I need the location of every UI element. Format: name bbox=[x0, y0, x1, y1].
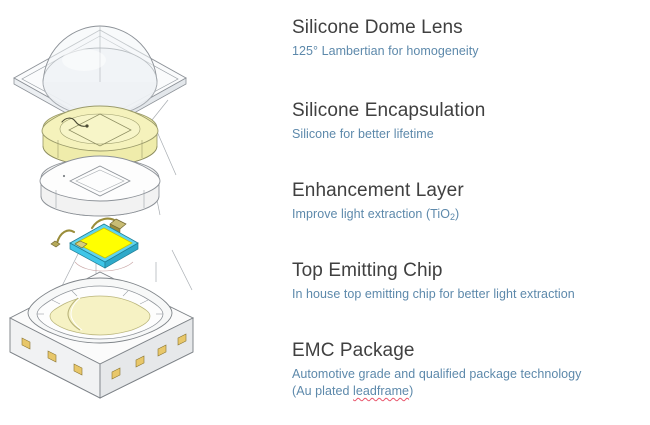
callout-title: Silicone Encapsulation bbox=[292, 99, 650, 123]
callout-silicone-dome-lens: Silicone Dome Lens 125° Lambertian for h… bbox=[292, 16, 650, 60]
callout-title: Enhancement Layer bbox=[292, 179, 650, 203]
led-exploded-diagram bbox=[0, 0, 285, 425]
callout-subtitle: 125° Lambertian for homogeneity bbox=[292, 43, 650, 60]
callout-subtitle-text-end: ) bbox=[409, 384, 413, 398]
callout-subtitle-text: Automotive grade and qualified package t… bbox=[292, 367, 581, 381]
callout-subtitle-text-end: ) bbox=[455, 207, 459, 221]
callout-enhancement-layer: Enhancement Layer Improve light extracti… bbox=[292, 179, 650, 224]
callout-subtitle: Automotive grade and qualified package t… bbox=[292, 366, 650, 383]
layer-top-emitting-chip bbox=[51, 219, 138, 271]
callout-subtitle: Improve light extraction (TiO2) bbox=[292, 206, 650, 224]
layer-enhancement bbox=[40, 156, 160, 216]
led-assembly-svg bbox=[0, 0, 285, 425]
callout-subtitle: Silicone for better lifetime bbox=[292, 126, 650, 143]
callout-subtitle-text: Improve light extraction (TiO bbox=[292, 207, 450, 221]
spellcheck-flagged-word: leadframe bbox=[353, 384, 409, 398]
chemical-subscript: 2 bbox=[450, 212, 455, 222]
callout-subtitle-line2: (Au plated leadframe) bbox=[292, 383, 650, 400]
callout-subtitle-text: In house top emitting chip for better li… bbox=[292, 287, 575, 301]
layer-emc-package bbox=[10, 272, 193, 398]
callout-silicone-encapsulation: Silicone Encapsulation Silicone for bett… bbox=[292, 99, 650, 143]
callout-title: EMC Package bbox=[292, 339, 650, 363]
callout-subtitle-text: Silicone for better lifetime bbox=[292, 127, 434, 141]
callout-list: Silicone Dome Lens 125° Lambertian for h… bbox=[292, 0, 650, 425]
callout-title: Silicone Dome Lens bbox=[292, 16, 650, 40]
callout-subtitle-text: 125° Lambertian for homogeneity bbox=[292, 44, 479, 58]
callout-emc-package: EMC Package Automotive grade and qualifi… bbox=[292, 339, 650, 400]
callout-top-emitting-chip: Top Emitting Chip In house top emitting … bbox=[292, 259, 650, 303]
callout-subtitle-text: (Au plated bbox=[292, 384, 353, 398]
callout-title: Top Emitting Chip bbox=[292, 259, 650, 283]
callout-subtitle: In house top emitting chip for better li… bbox=[292, 286, 650, 303]
